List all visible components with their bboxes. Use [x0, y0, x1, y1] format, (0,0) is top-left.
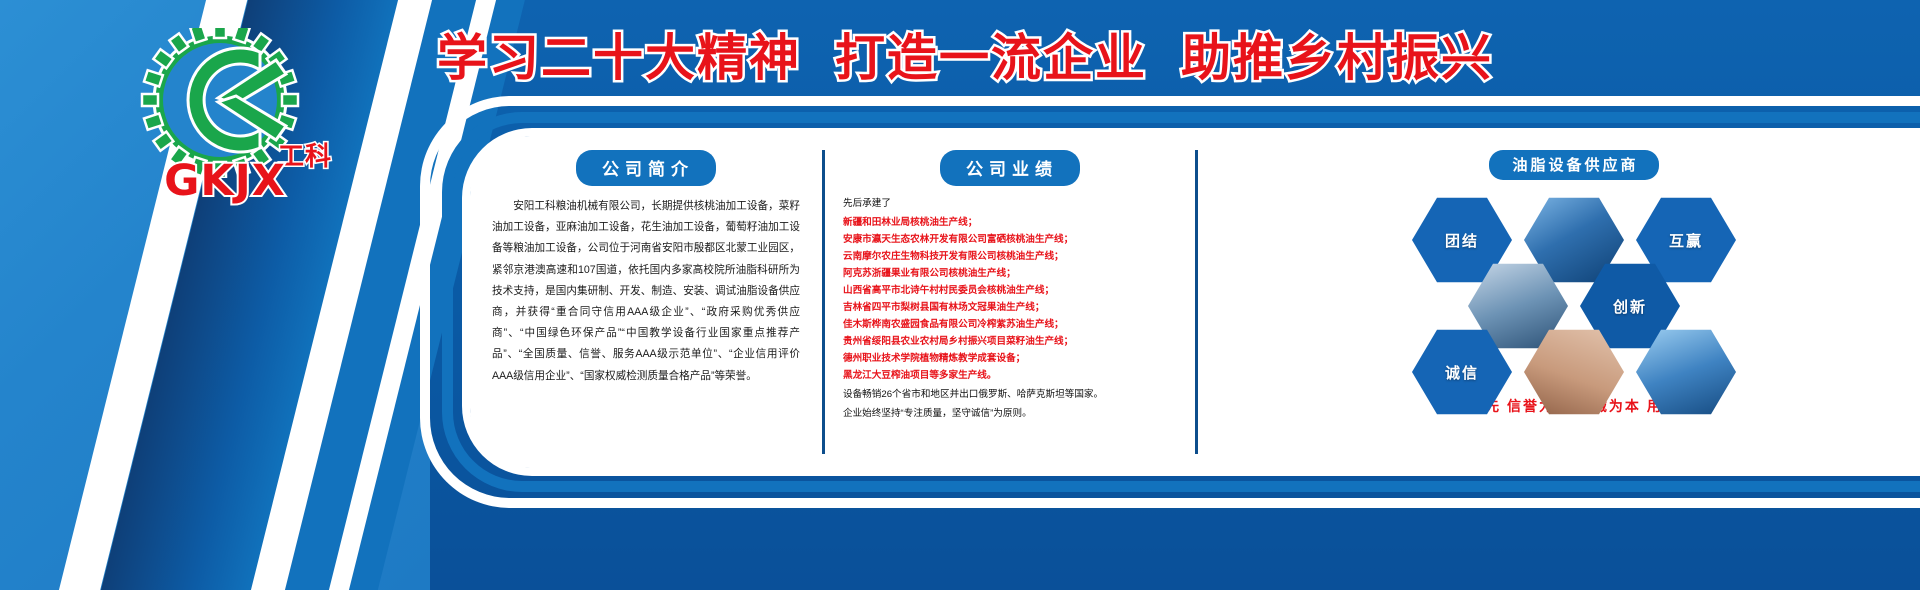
performance-project-list: 新疆和田林业局核桃油生产线； 安康市瀛天生态农林开发有限公司富硒核桃油生产线； …	[843, 214, 1177, 385]
list-item: 黑龙江大豆榨油项目等多家生产线。	[843, 367, 1177, 384]
list-item: 佳木斯桦南农盛园食品有限公司冷榨紫苏油生产线；	[843, 316, 1177, 333]
panel-performance: 公司业绩 先后承建了 新疆和田林业局核桃油生产线； 安康市瀛天生态农林开发有限公…	[825, 136, 1195, 468]
panel-performance-footer-1: 设备畅销26个省市和地区并出口俄罗斯、哈萨克斯坦等国家。	[843, 386, 1177, 403]
panel-company-intro: 公司简介 安阳工科粮油机械有限公司，长期提供核桃油加工设备，菜籽油加工设备，亚麻…	[470, 136, 822, 468]
panel-supplier-title: 油脂设备供应商	[1489, 150, 1658, 180]
panel-supplier-header: 油脂设备供应商	[1216, 150, 1920, 180]
banner-root: 工科 GKJX 学习二十大精神 打造一流企业 助推乡村振兴 公司简介 安阳工科粮…	[0, 0, 1920, 590]
list-item: 吉林省四平市梨树县国有林场文冠果油生产线；	[843, 299, 1177, 316]
list-item: 德州职业技术学院植物精炼教学成套设备；	[843, 350, 1177, 367]
list-item: 云南摩尔农庄生物科技开发有限公司核桃油生产线；	[843, 248, 1177, 265]
list-item: 新疆和田林业局核桃油生产线；	[843, 214, 1177, 231]
list-item: 阿克苏浙疆果业有限公司核桃油生产线；	[843, 265, 1177, 282]
hexagon-cluster: 团结 互赢 创新 诚信	[1394, 190, 1754, 390]
panel-company-intro-title: 公司简介	[576, 150, 716, 186]
panel-performance-header: 公司业绩	[843, 150, 1177, 186]
list-item: 安康市瀛天生态农林开发有限公司富硒核桃油生产线；	[843, 231, 1177, 248]
company-logo: 工科 GKJX	[120, 28, 330, 203]
list-item: 山西省高平市北诗午村村民委员会核桃油生产线；	[843, 282, 1177, 299]
logo-english-name: GKJX	[112, 156, 338, 206]
panel-performance-lead: 先后承建了	[843, 196, 1177, 213]
content-card: 公司简介 安阳工科粮油机械有限公司，长期提供核桃油加工设备，菜籽油加工设备，亚麻…	[470, 136, 1920, 468]
hexagon-label: 诚信	[1445, 362, 1479, 383]
hexagon-label: 互赢	[1669, 230, 1703, 251]
panel-performance-footer-2: 企业始终坚持“专注质量，坚守诚信”为原则。	[843, 405, 1177, 422]
hexagon-label: 创新	[1613, 296, 1647, 317]
headline-part-3: 助推乡村振兴	[1181, 18, 1493, 90]
hexagon-label: 团结	[1445, 230, 1479, 251]
panel-company-intro-body: 安阳工科粮油机械有限公司，长期提供核桃油加工设备，菜籽油加工设备，亚麻油加工设备…	[488, 196, 804, 387]
headline: 学习二十大精神 打造一流企业 助推乡村振兴	[430, 18, 1500, 90]
panel-company-intro-header: 公司简介	[488, 150, 804, 186]
panel-supplier: 油脂设备供应商 团结 互赢 创新	[1198, 136, 1920, 468]
list-item: 贵州省绥阳县农业农村局乡村振兴项目菜籽油生产线；	[843, 333, 1177, 350]
headline-part-1: 学习二十大精神	[437, 18, 801, 90]
headline-part-2: 打造一流企业	[835, 18, 1147, 90]
panel-performance-title: 公司业绩	[940, 150, 1080, 186]
